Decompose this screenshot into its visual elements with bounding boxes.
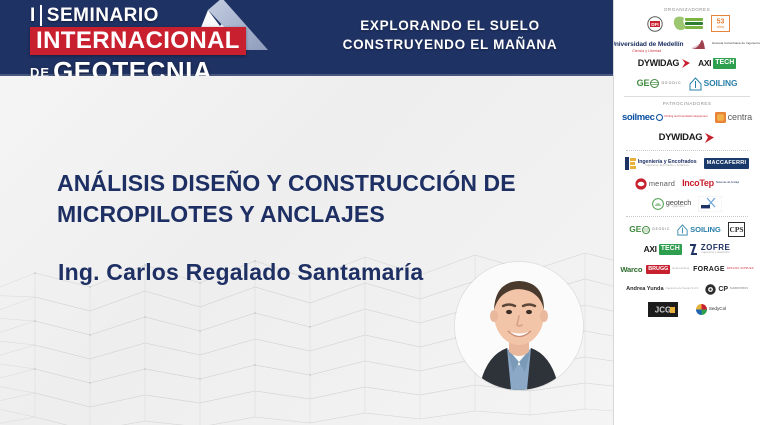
event-slogan: EXPLORANDO EL SUELO CONSTRUYENDO EL MAÑA… [300, 16, 600, 54]
zofre-logo[interactable]: ZOFRE ingeniería y desarrollo [689, 241, 731, 258]
forage-logo[interactable]: FORAGE DRILLING SUPPLIES [693, 261, 754, 278]
cp-mark-icon [705, 284, 716, 295]
geodic-logo[interactable]: GE GEODIC [637, 75, 682, 92]
zofre-label: ZOFRE ingeniería y desarrollo [701, 244, 731, 254]
dywidag-logo[interactable]: DYWIDAG [659, 129, 716, 146]
presentation-slide: ISEMINARIO INTERNACIONAL DEGEOTECNIA EXP… [0, 0, 760, 425]
axiatech-logo[interactable]: AXI TECH [644, 241, 682, 258]
soilmec-logo[interactable]: soilmec Drilling and Foundation Equipmen… [622, 109, 708, 126]
divider [624, 96, 750, 97]
escuela-colombiana-ingenieria-logo[interactable]: Escuela Colombiana de Ingeniería Julio G… [690, 35, 760, 52]
slide-header-band: ISEMINARIO INTERNACIONAL DEGEOTECNIA EXP… [0, 0, 613, 76]
divider [626, 216, 748, 217]
escuela-colombiana-label: Escuela Colombiana de Ingeniería Julio G… [712, 42, 760, 45]
sponsor-row: AXI TECH ZOFRE ingeniería y desarrollo [618, 241, 756, 258]
cp-logo[interactable]: CP SUMINISTROS [705, 281, 748, 298]
section-label-organizadores: ORGANIZADORES [618, 7, 756, 12]
sponsor-row: Andrea Yunda Ingeniería de Suelos S.A.S … [618, 281, 756, 298]
warco-logo[interactable]: Warco [620, 261, 642, 278]
event-logo: ISEMINARIO INTERNACIONAL DEGEOTECNIA [30, 5, 280, 73]
geotech-label: geotech ingeniería [666, 199, 692, 209]
sponsor-row: GE GEODIC SOILING CPS [618, 221, 756, 238]
ingenieria-mark-icon [625, 157, 636, 170]
event-logo-internacional: INTERNACIONAL [30, 27, 246, 55]
dfi-logo[interactable]: DFI [645, 15, 665, 32]
sedycol-logo[interactable]: SedyCol [696, 301, 726, 318]
incotep-logo[interactable]: IncoTep Sistemas de Anclaje [682, 175, 739, 192]
soiling-house-icon [689, 77, 702, 91]
sponsor-row: Ingeniería y Encofrados Ingeniería, Enco… [618, 155, 756, 172]
sponsor-row: DYWIDAG [618, 129, 756, 146]
section-label-patrocinadores: PATROCINADORES [618, 101, 756, 106]
event-logo-line1: ISEMINARIO [30, 5, 280, 26]
page-title: ANÁLISIS DISEÑO Y CONSTRUCCIÓN DE MICROP… [57, 168, 557, 230]
zofre-mark-icon [689, 244, 699, 255]
sponsor-row: DYWIDAG AXI TECH [618, 55, 756, 72]
soilmec-mark-icon [656, 114, 663, 121]
geodic-globe-icon [650, 79, 659, 88]
geodic-logo[interactable]: GE GEODIC [629, 221, 670, 238]
dywidag-arrow-icon [681, 58, 691, 69]
ingenieria-y-encofrados-logo[interactable]: Ingeniería y Encofrados Ingeniería, Enco… [625, 155, 697, 172]
divider [626, 150, 748, 151]
slogan-line-1: EXPLORANDO EL SUELO [300, 16, 600, 35]
soiling-house-icon [677, 224, 688, 236]
dywidag-arrow-icon [704, 132, 715, 144]
svg-text:años: años [716, 25, 724, 29]
ingenieria-label: Ingeniería y Encofrados Ingeniería, Enco… [638, 159, 697, 167]
geotech-mark-icon [652, 198, 664, 210]
sponsor-row: soilmec Drilling and Foundation Equipmen… [618, 109, 756, 126]
centra-logo[interactable]: centra [715, 109, 752, 126]
universidad-de-medellin-logo[interactable]: Universidad de Medellín Ciencia y Libert… [613, 35, 683, 52]
slogan-line-2: CONSTRUYENDO EL MAÑANA [300, 35, 600, 54]
geotech-logo[interactable]: geotech ingeniería [652, 195, 692, 212]
geodic-globe-icon [642, 226, 650, 234]
speaker-name: Ing. Carlos Regalado Santamaría [58, 259, 423, 286]
sponsor-row: DFI 53años [618, 15, 756, 32]
sponsor-row: Universidad de Medellín Ciencia y Libert… [618, 35, 756, 52]
cps-logo[interactable]: CPS [728, 221, 745, 238]
x3-mark-icon [698, 196, 722, 212]
soiling-logo[interactable]: SOILING [689, 75, 738, 92]
brugg-logo[interactable]: BRUGG Geotrenching [646, 261, 689, 278]
centra-mark-icon [715, 112, 726, 123]
soiling-logo[interactable]: SOILING [677, 221, 721, 238]
sponsor-row: JCG SedyCol [618, 301, 756, 318]
universidad-de-medellin-label: Universidad de Medellín Ciencia y Libert… [613, 34, 683, 53]
menard-mark-icon [635, 178, 647, 190]
sponsor-row: geotech ingeniería [618, 195, 756, 212]
maccaferri-logo[interactable]: MACCAFERRI [704, 155, 750, 172]
x3-logo[interactable] [698, 195, 722, 212]
sponsor-row: GE GEODIC SOILING [618, 75, 756, 92]
andrea-yunda-logo[interactable]: Andrea Yunda Ingeniería de Suelos S.A.S [626, 281, 698, 298]
jcg-logo[interactable]: JCG [648, 301, 678, 318]
event-logo-geotecnia: GEOTECNIA [53, 56, 212, 76]
sponsor-row: Warco BRUGG Geotrenching FORAGE DRILLING… [618, 261, 756, 278]
event-logo-de: DE [30, 65, 50, 76]
event-logo-seminario: SEMINARIO [47, 5, 159, 26]
event-logo-line3: DEGEOTECNIA [30, 56, 280, 76]
sponsor-row: menard IncoTep Sistemas de Anclaje [618, 175, 756, 192]
svg-text:DFI: DFI [651, 22, 658, 27]
speaker-portrait-graphic [455, 262, 583, 390]
menard-logo[interactable]: menard [635, 175, 675, 192]
dywidag-logo[interactable]: DYWIDAG [638, 55, 691, 72]
sociedad-colombiana-geotecnia-logo[interactable] [672, 15, 704, 32]
avatar [455, 262, 583, 390]
axiatech-logo[interactable]: AXI TECH [698, 55, 736, 72]
svg-text:JCG: JCG [655, 306, 671, 315]
slide-main-area: ISEMINARIO INTERNACIONAL DEGEOTECNIA EXP… [0, 0, 613, 425]
sponsor-sidebar: ORGANIZADORES DFI 53años Universidad de … [613, 0, 760, 425]
event-logo-roman-numeral: I [30, 5, 42, 26]
53-anios-logo[interactable]: 53años [711, 15, 730, 32]
sedycol-mark-icon [696, 304, 707, 315]
svg-text:CPS: CPS [729, 225, 743, 234]
